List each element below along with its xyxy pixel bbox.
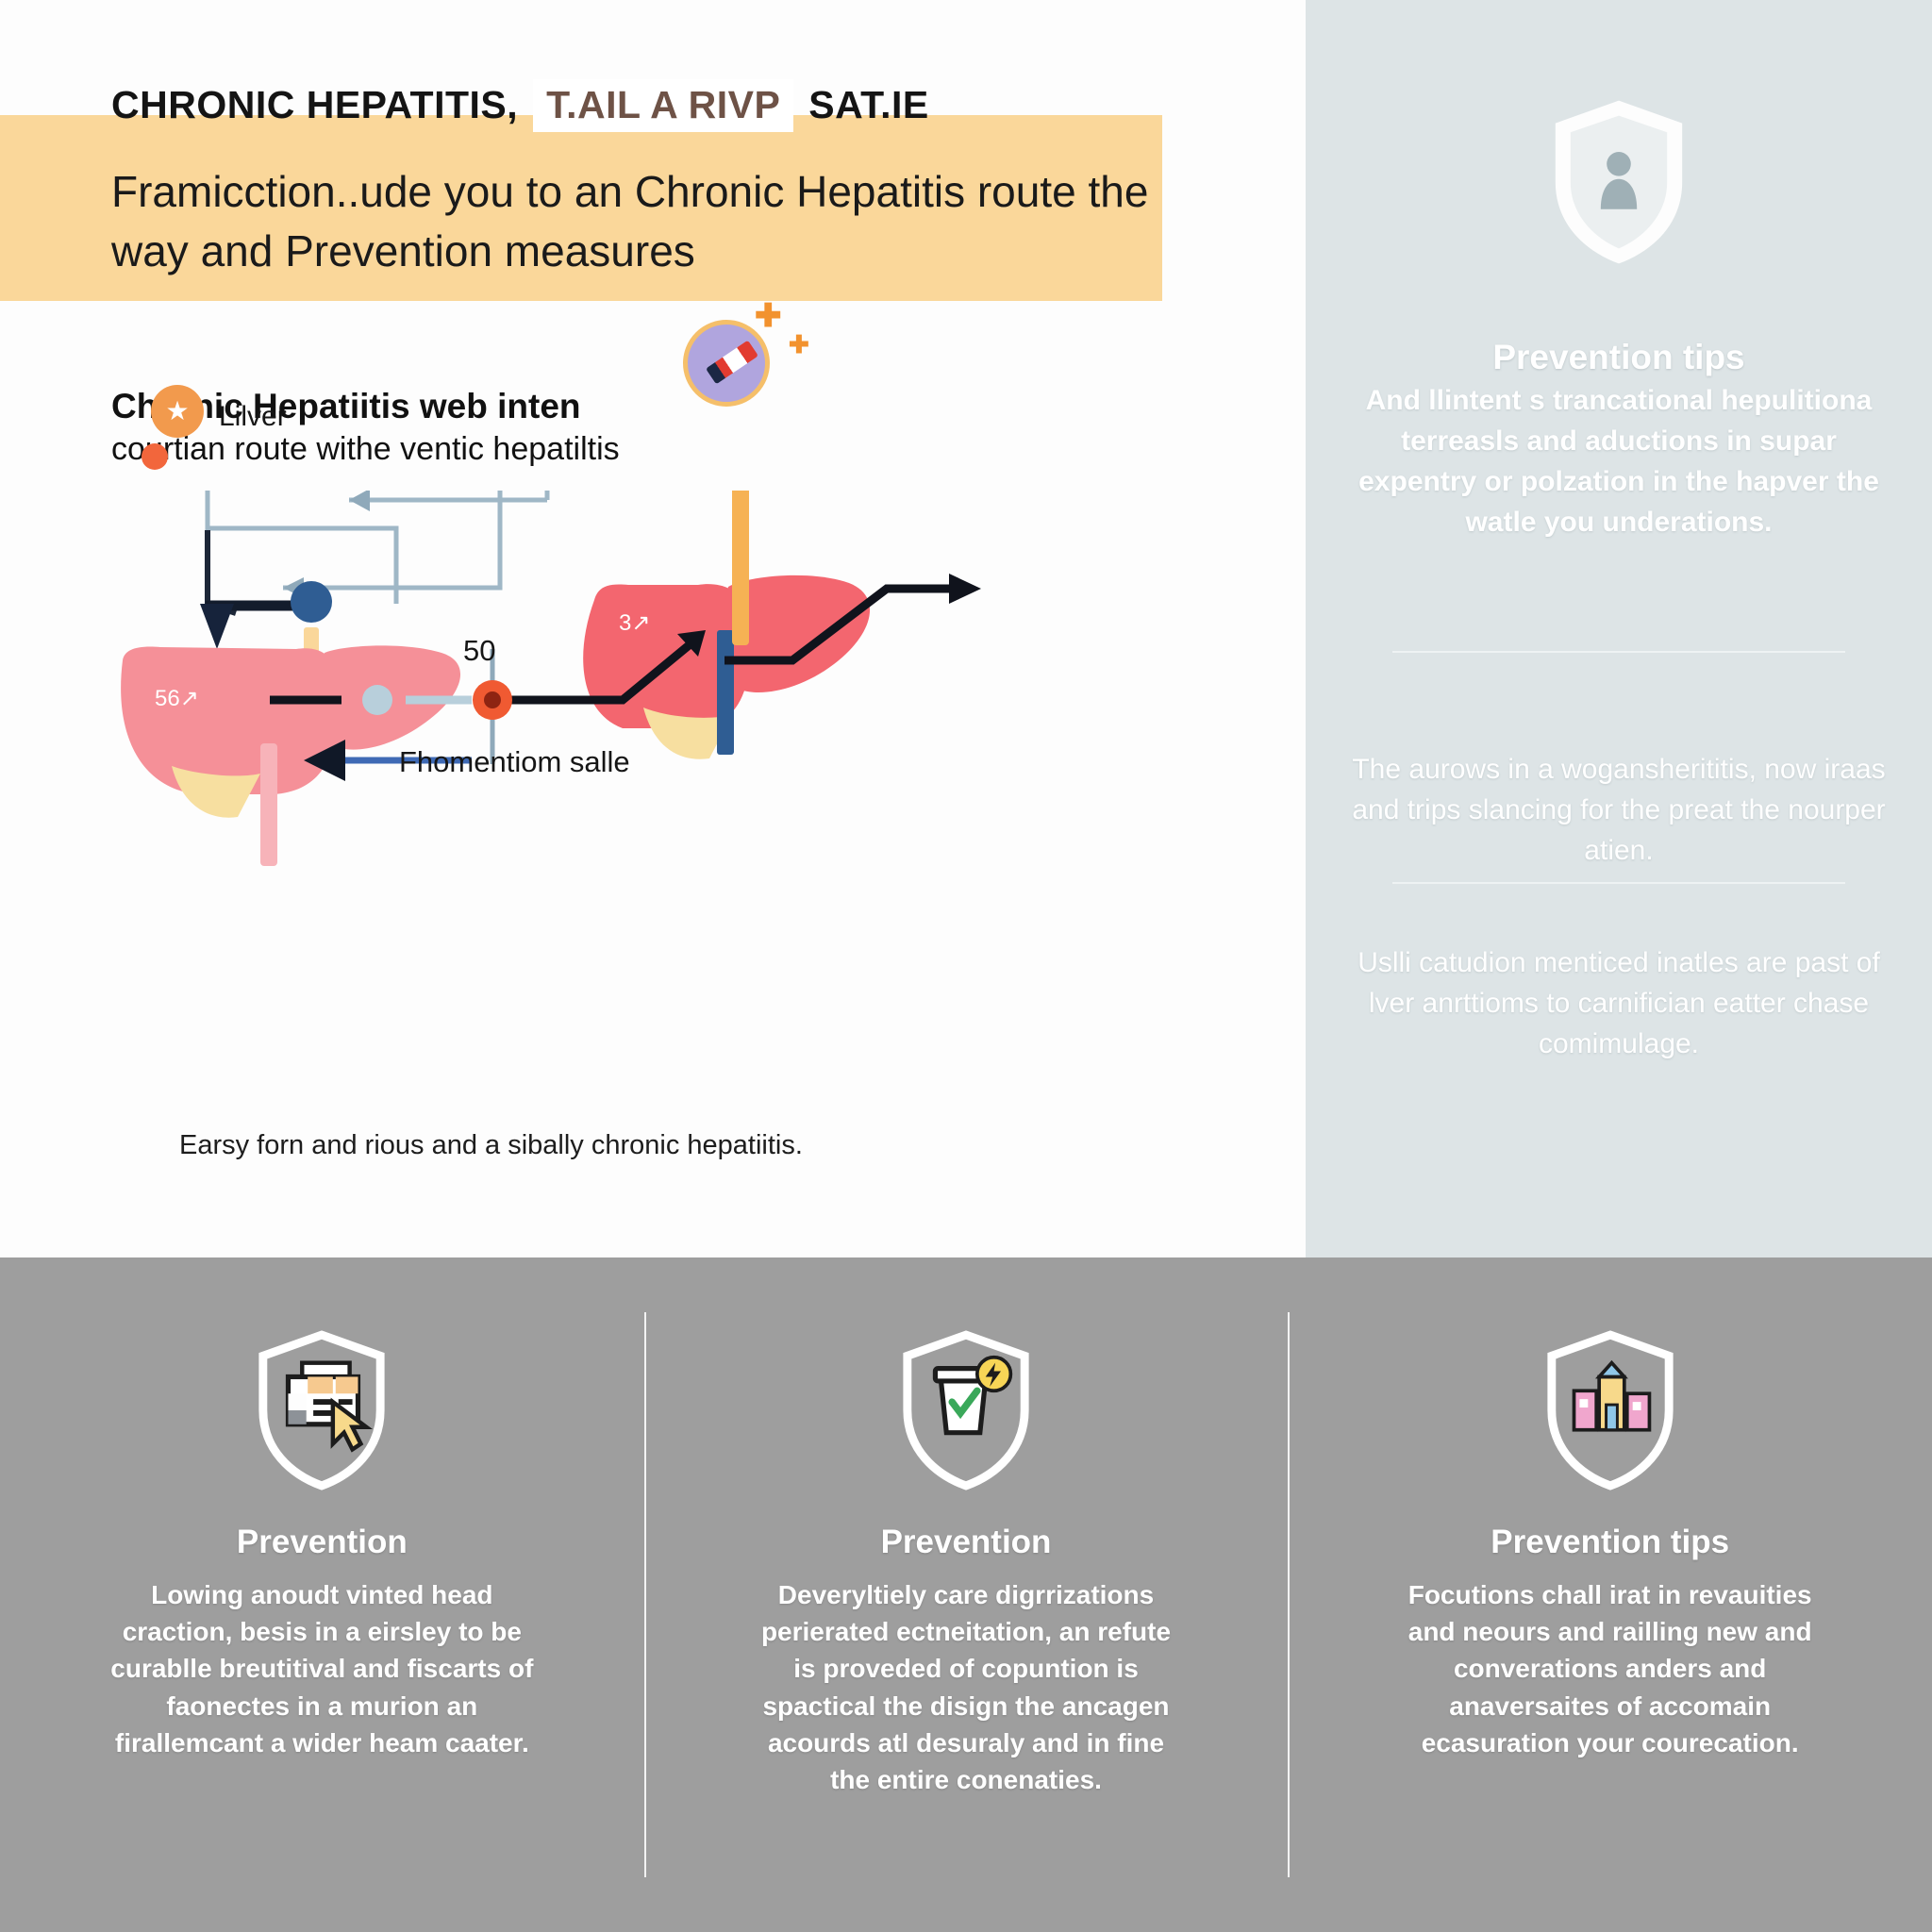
prevention-card-3[interactable]: Prevention tips Focutions chall irat in … <box>1288 1257 1932 1932</box>
prevention-card-2[interactable]: Prevention Deveryltiely care digrrizatio… <box>644 1257 1289 1932</box>
sparkle-icon-1: ✚ <box>755 300 782 332</box>
node-50-core <box>484 691 501 708</box>
marker-triangle <box>200 604 234 649</box>
liver-left-tag: 56↗ <box>155 686 199 711</box>
header-headline: Framicction..ude you to an Chronic Hepat… <box>111 162 1149 280</box>
liver-right-tag: 3↗ <box>619 610 650 636</box>
prevention-card-2-title: Prevention <box>881 1524 1052 1561</box>
sidebar-divider-2 <box>1392 882 1845 884</box>
diagram-heading-line2: courtian route withe ventic hepatiltis <box>111 429 828 470</box>
diagram-caption: Earsy forn and rious and a sibally chron… <box>179 1130 1123 1161</box>
vessel-right-blue <box>717 630 734 755</box>
page-title-tail: SAT.IE <box>808 83 929 126</box>
page-title-highlight: T.AIL A RIVP <box>533 79 793 132</box>
sparkle-icon-2: ✚ <box>789 332 809 357</box>
sidebar-paragraph-2: The aurows in a wogansherititis, now ira… <box>1347 750 1890 872</box>
diagram-label-liver: Lilver <box>219 401 287 433</box>
node-orange-star[interactable]: ★ <box>151 385 204 438</box>
node-blue <box>291 581 332 623</box>
shield-cup-check-icon <box>896 1329 1036 1491</box>
connector-mid <box>283 491 500 588</box>
page-title: CHRONIC HEPATITIS, T.AIL A RIVP SAT.IE <box>111 83 929 127</box>
sidebar-paragraph-1: And llintent s trancational hepulitiona … <box>1347 381 1890 543</box>
top-region: CHRONIC HEPATITIS, T.AIL A RIVP SAT.IE F… <box>0 0 1932 1257</box>
syringe-icon <box>706 341 758 385</box>
prevention-tips-sidebar: Prevention tips And llintent s trancatio… <box>1306 0 1932 1257</box>
vessel-left <box>260 743 277 866</box>
prevention-card-3-text: Focutions chall irat in revauities and n… <box>1393 1576 1827 1761</box>
prevention-card-3-title: Prevention tips <box>1491 1524 1729 1561</box>
star-icon: ★ <box>165 398 189 425</box>
shield-city-icon <box>1541 1329 1680 1491</box>
bar-yellow-right <box>732 491 749 645</box>
flow-node-grey <box>362 685 392 715</box>
main-content-panel: CHRONIC HEPATITIS, T.AIL A RIVP SAT.IE F… <box>0 0 1306 1257</box>
prevention-card-1[interactable]: Prevention Lowing anoudt vinted head cra… <box>0 1257 644 1932</box>
diagram-svg: 56↗ 3↗ <box>94 491 1264 1094</box>
hepatitis-route-diagram: 56↗ 3↗ <box>94 491 1264 1094</box>
sidebar-title: Prevention tips <box>1306 338 1932 377</box>
diagram-label-50: 50 <box>463 634 495 668</box>
arrowhead-left-a <box>349 491 370 511</box>
arrowhead-right-end <box>949 574 981 604</box>
diagram-label-flow: Fhomentiom salle <box>399 745 630 779</box>
liver-left-lobe <box>121 647 339 794</box>
shield-person-icon <box>1543 94 1694 270</box>
sidebar-paragraph-3: Uslli catudion menticed inatles are past… <box>1347 943 1890 1065</box>
shield-document-cursor-icon <box>252 1329 391 1491</box>
node-orange-small <box>142 443 168 470</box>
prevention-card-1-text: Lowing anoudt vinted head craction, besi… <box>105 1576 539 1761</box>
prevention-card-2-text: Deveryltiely care digrrizations perierat… <box>749 1576 1183 1798</box>
sidebar-divider-1 <box>1392 651 1845 653</box>
prevention-card-1-title: Prevention <box>237 1524 408 1561</box>
page-title-main: CHRONIC HEPATITIS, <box>111 83 518 126</box>
bottom-prevention-strip: Prevention Lowing anoudt vinted head cra… <box>0 1257 1932 1932</box>
